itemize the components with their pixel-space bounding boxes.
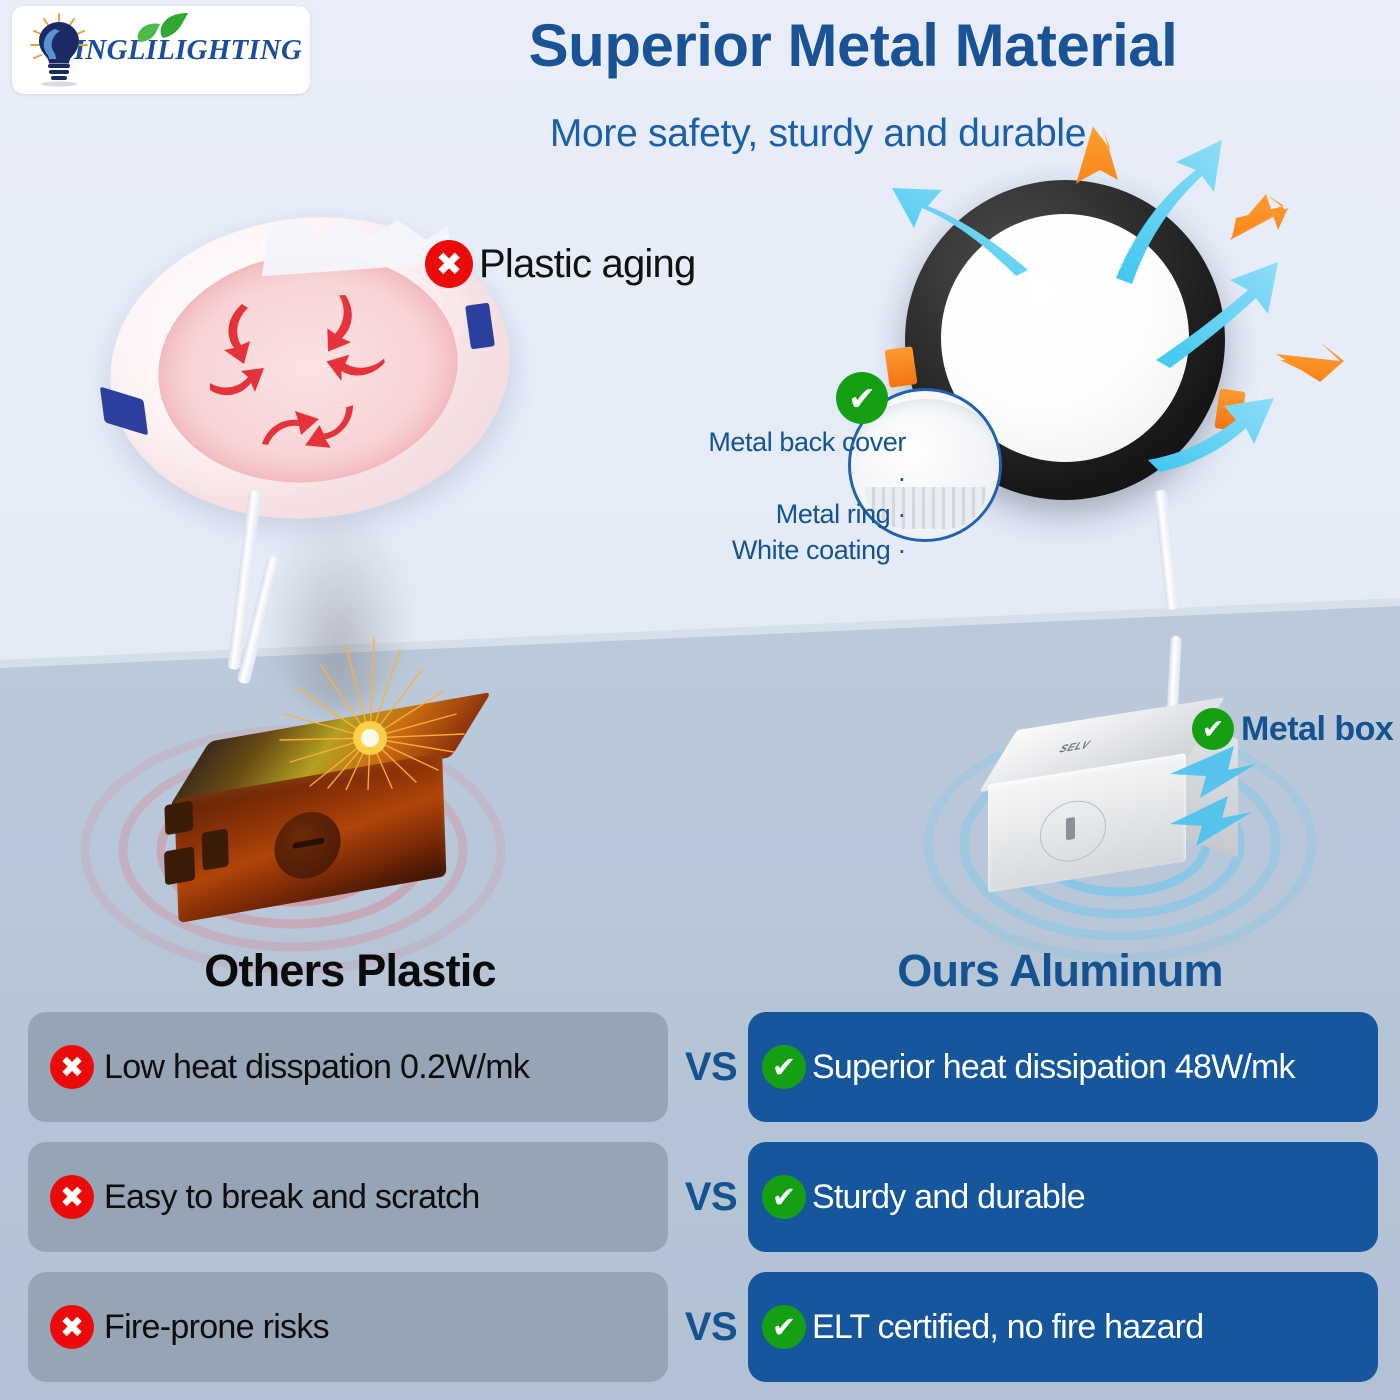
others-cell: ✖ Easy to break and scratch bbox=[28, 1142, 668, 1252]
green-check-icon: ✔ bbox=[762, 1305, 806, 1349]
green-check-icon: ✔ bbox=[762, 1175, 806, 1219]
column-heading-others: Others Plastic bbox=[50, 945, 650, 997]
ours-cell: ✔ ELT certified, no fire hazard bbox=[748, 1272, 1378, 1382]
metal-box-airflow-arrows bbox=[1170, 740, 1350, 880]
others-text: Fire-prone risks bbox=[104, 1308, 329, 1347]
callout-line-2: Metal ring · bbox=[706, 497, 906, 533]
leaf-icon bbox=[136, 12, 190, 46]
green-check-icon: ✔ bbox=[762, 1045, 806, 1089]
infographic-canvas: INGLILIGHTING Superior Metal Material Mo… bbox=[0, 0, 1400, 1400]
ours-cell: ✔ Sturdy and durable bbox=[748, 1142, 1378, 1252]
callout-line-1: Metal back cover · bbox=[706, 425, 906, 497]
page-title: Superior Metal Material bbox=[318, 12, 1388, 79]
vs-label: VS bbox=[676, 1142, 746, 1252]
column-heading-ours: Ours Aluminum bbox=[760, 945, 1360, 997]
trapped-heat-arrows bbox=[170, 268, 450, 468]
metal-box-label: Metal box bbox=[1241, 710, 1393, 749]
comparison-row: ✖ Easy to break and scratch VS ✔ Sturdy … bbox=[0, 1142, 1400, 1252]
plastic-aging-label: Plastic aging bbox=[479, 242, 695, 287]
ours-text: Sturdy and durable bbox=[812, 1178, 1085, 1217]
red-x-icon: ✖ bbox=[50, 1045, 94, 1089]
metal-construction-callout: Metal back cover · Metal ring · White co… bbox=[706, 425, 906, 569]
red-x-icon: ✖ bbox=[50, 1305, 94, 1349]
others-cell: ✖ Low heat disspation 0.2W/mk bbox=[28, 1012, 668, 1122]
electrical-sparks bbox=[250, 630, 510, 790]
others-text: Easy to break and scratch bbox=[104, 1178, 480, 1217]
ours-text: Superior heat dissipation 48W/mk bbox=[812, 1048, 1295, 1087]
comparison-table: ✖ Low heat disspation 0.2W/mk VS ✔ Super… bbox=[0, 1012, 1400, 1400]
comparison-row: ✖ Low heat disspation 0.2W/mk VS ✔ Super… bbox=[0, 1012, 1400, 1122]
lightbulb-icon bbox=[28, 13, 90, 87]
callout-line-3: White coating · bbox=[706, 533, 906, 569]
others-text: Low heat disspation 0.2W/mk bbox=[104, 1048, 529, 1087]
red-x-icon: ✖ bbox=[425, 240, 473, 288]
vs-label: VS bbox=[676, 1272, 746, 1382]
red-x-icon: ✖ bbox=[50, 1175, 94, 1219]
brand-logo: INGLILIGHTING bbox=[12, 6, 310, 94]
plastic-aging-tag: ✖ Plastic aging bbox=[425, 240, 695, 288]
ours-text: ELT certified, no fire hazard bbox=[812, 1308, 1203, 1347]
metal-box-tag: ✔ Metal box bbox=[1192, 708, 1393, 750]
others-cell: ✖ Fire-prone risks bbox=[28, 1272, 668, 1382]
green-check-icon: ✔ bbox=[836, 372, 888, 424]
vs-label: VS bbox=[676, 1012, 746, 1122]
comparison-row: ✖ Fire-prone risks VS ✔ ELT certified, n… bbox=[0, 1272, 1400, 1382]
green-check-icon: ✔ bbox=[1192, 708, 1234, 750]
ours-cell: ✔ Superior heat dissipation 48W/mk bbox=[748, 1012, 1378, 1122]
